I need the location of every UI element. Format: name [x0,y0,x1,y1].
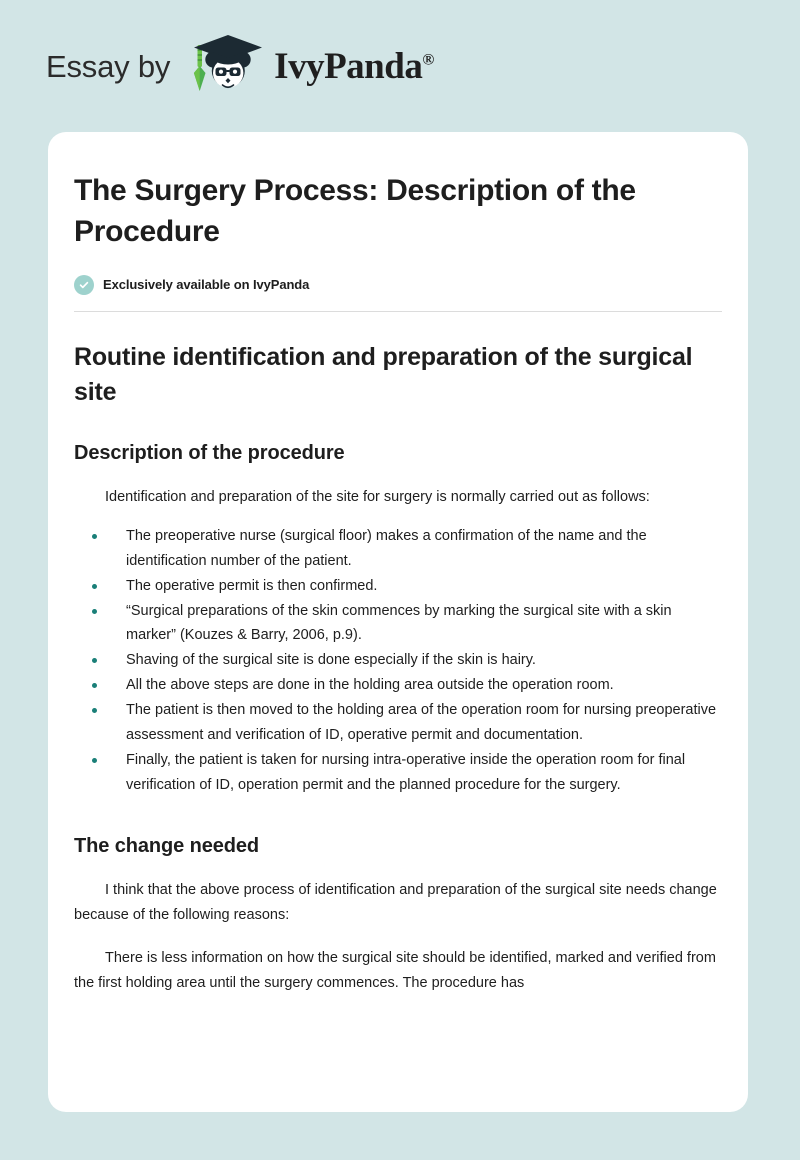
essay-paper-card: The Surgery Process: Description of the … [48,132,748,1112]
subheading-the-change-needed: The change needed [74,832,722,860]
list-item: Shaving of the surgical site is done esp… [74,648,722,673]
exclusive-availability-label: Exclusively available on IvyPanda [103,277,309,292]
page-title: The Surgery Process: Description of the … [74,170,722,253]
registered-trademark-icon: ® [422,51,433,68]
intro-paragraph: Identification and preparation of the si… [74,485,722,510]
ivypanda-panda-graduate-logo-icon[interactable] [182,33,268,99]
exclusive-availability-badge: Exclusively available on IvyPanda [74,275,722,295]
change-needed-paragraph-2: There is less information on how the sur… [74,946,722,996]
subheading-description-of-procedure: Description of the procedure [74,439,722,467]
ivypanda-wordmark[interactable]: IvyPanda® [274,48,434,85]
procedure-steps-list: The preoperative nurse (surgical floor) … [74,524,722,798]
change-needed-paragraph-1: I think that the above process of identi… [74,878,722,928]
list-item: “Surgical preparations of the skin comme… [74,599,722,649]
ivypanda-wordmark-text: IvyPanda [274,46,422,87]
check-circle-icon [74,275,94,295]
list-item: The operative permit is then confirmed. [74,574,722,599]
list-item: The patient is then moved to the holding… [74,698,722,748]
list-item: All the above steps are done in the hold… [74,673,722,698]
section-heading-routine-identification: Routine identification and preparation o… [74,340,714,411]
list-item: Finally, the patient is taken for nursin… [74,748,722,798]
brand-header: Essay by [0,0,800,132]
essay-by-label: Essay by [46,51,170,82]
list-item: The preoperative nurse (surgical floor) … [74,524,722,574]
header-divider [74,311,722,312]
